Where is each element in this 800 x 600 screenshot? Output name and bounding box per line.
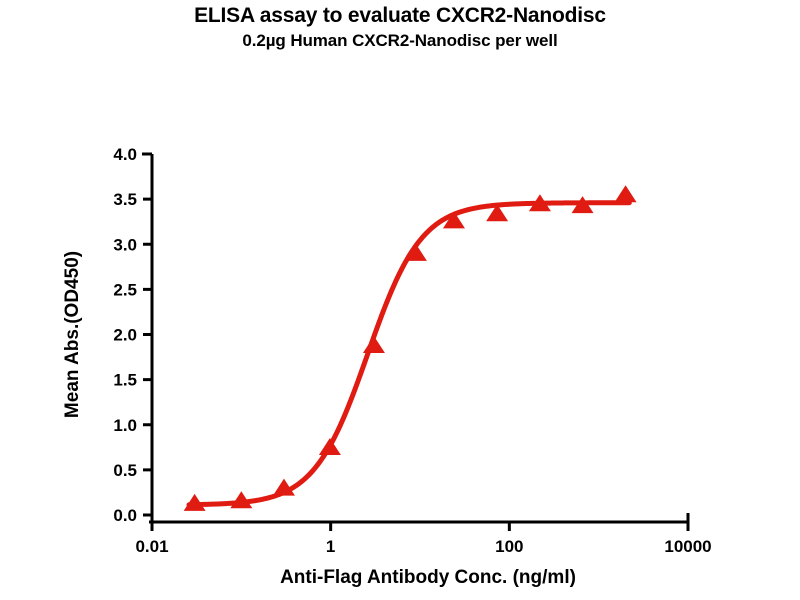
ticks-layer: 0.00.51.01.52.02.53.03.54.00.01110010000 xyxy=(113,145,711,556)
y-axis-tick-label: 0.5 xyxy=(113,461,137,480)
y-axis-tick-label: 1.0 xyxy=(113,416,137,435)
y-axis-tick-label: 0.0 xyxy=(113,506,137,525)
x-axis-tick-label: 10000 xyxy=(664,537,711,556)
chart-page: ELISA assay to evaluate CXCR2-Nanodisc 0… xyxy=(0,0,800,600)
x-axis-tick-label: 0.01 xyxy=(135,537,168,556)
y-axis-tick-label: 2.5 xyxy=(113,280,137,299)
x-axis-tick-label: 1 xyxy=(326,537,335,556)
fit-curve xyxy=(189,203,629,505)
y-axis-tick-label: 4.0 xyxy=(113,145,137,164)
axes-layer xyxy=(142,154,688,522)
y-axis-title: Mean Abs.(OD450) xyxy=(62,251,83,418)
data-point-marker xyxy=(319,438,341,455)
data-point-marker xyxy=(405,244,427,261)
fit-curve-layer xyxy=(189,203,629,505)
data-point-marker xyxy=(615,185,637,202)
data-markers-layer xyxy=(184,185,637,511)
x-axis-title: Anti-Flag Antibody Conc. (ng/ml) xyxy=(280,567,576,588)
y-axis-tick-label: 3.5 xyxy=(113,190,137,209)
y-axis-tick-label: 1.5 xyxy=(113,371,137,390)
data-point-marker xyxy=(363,336,385,353)
x-axis-tick-label: 100 xyxy=(495,537,523,556)
y-axis-tick-label: 3.0 xyxy=(113,235,137,254)
y-axis-tick-label: 2.0 xyxy=(113,326,137,345)
elisa-plot: 0.00.51.01.52.02.53.03.54.00.01110010000… xyxy=(0,0,800,600)
